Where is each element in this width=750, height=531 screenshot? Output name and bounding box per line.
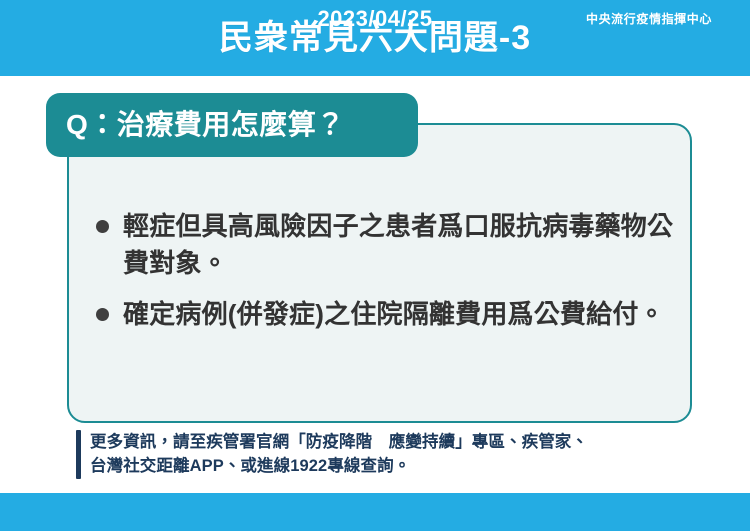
bullet-text: 確定病例(併發症)之住院隔離費用爲公費給付。 — [123, 296, 686, 333]
note-accent-bar-icon — [76, 430, 81, 479]
bullet-dot-icon — [96, 220, 109, 233]
list-item: 確定病例(併發症)之住院隔離費用爲公費給付。 — [96, 296, 686, 333]
note-line: 台灣社交距離APP、或進線1922專線查詢。 — [90, 454, 706, 478]
note-line: 更多資訊，請至疾管署官網「防疫降階 應變持續」專區、疾管家、 — [90, 430, 706, 454]
note-text: 更多資訊，請至疾管署官網「防疫降階 應變持續」專區、疾管家、 台灣社交距離APP… — [90, 430, 706, 479]
poster-root: 民衆常見六大問題-3 Q：治療費用怎麼算？ 輕症但具高風險因子之患者爲口服抗病毒… — [0, 0, 750, 531]
footer-bar — [0, 493, 750, 531]
answer-bullet-list: 輕症但具高風險因子之患者爲口服抗病毒藥物公費對象。 確定病例(併發症)之住院隔離… — [96, 208, 686, 333]
list-item: 輕症但具高風險因子之患者爲口服抗病毒藥物公費對象。 — [96, 208, 686, 282]
question-banner: Q：治療費用怎麼算？ — [46, 93, 418, 157]
footer-agency: 中央流行疫情指揮中心 — [586, 0, 712, 38]
bullet-text: 輕症但具高風險因子之患者爲口服抗病毒藥物公費對象。 — [123, 208, 686, 282]
footer-note: 更多資訊，請至疾管署官網「防疫降階 應變持續」專區、疾管家、 台灣社交距離APP… — [76, 430, 706, 479]
bullet-dot-icon — [96, 308, 109, 321]
question-banner-label: Q：治療費用怎麼算？ — [66, 111, 345, 139]
